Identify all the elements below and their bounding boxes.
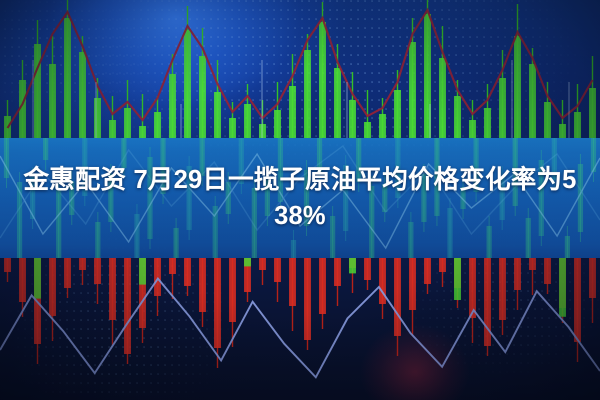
banner-image: 金惠配资 7月29日一揽子原油平均价格变化率为5 38% <box>0 0 600 400</box>
headline-band <box>0 138 600 258</box>
band-tint <box>0 138 600 258</box>
